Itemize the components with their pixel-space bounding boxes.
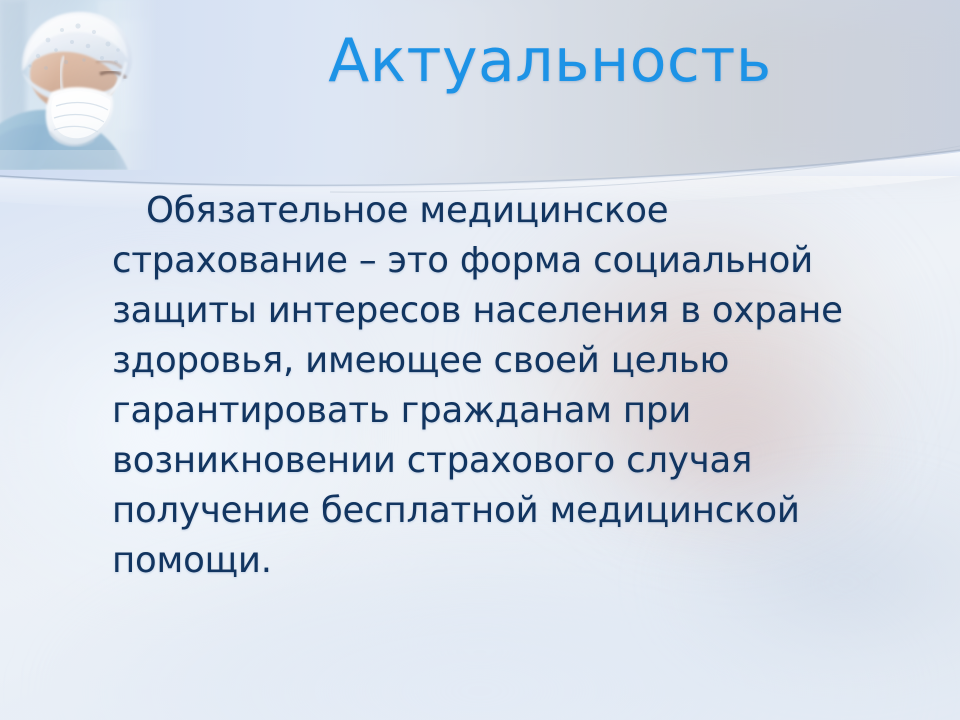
- slide-body-text: Обязательное медицинское страхование – э…: [112, 186, 912, 586]
- slide-title: Актуальность: [180, 30, 920, 93]
- surgeon-photo: [0, 0, 158, 170]
- presentation-slide: Актуальность Обязательное медицинское ст…: [0, 0, 960, 720]
